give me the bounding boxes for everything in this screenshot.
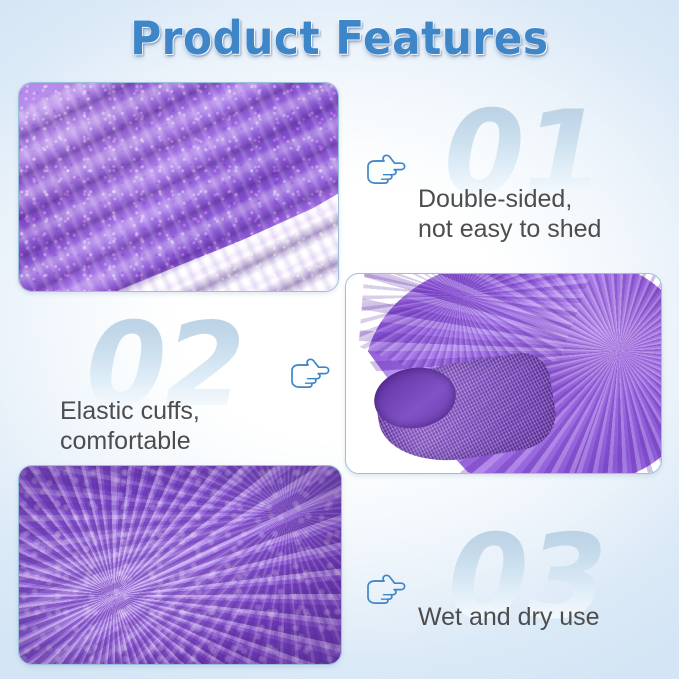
- photo-1-image: [19, 83, 338, 291]
- page-title: Product Features: [130, 12, 548, 64]
- photo-2-image: [346, 274, 661, 473]
- fabric-vignette: [19, 466, 341, 664]
- wash-mitt-texture: [346, 274, 661, 473]
- product-photo-double-sided: [18, 82, 339, 292]
- feature-text-1: Double-sided, not easy to shed: [418, 184, 601, 244]
- pointing-hand-right-icon: [360, 148, 406, 188]
- product-features-infographic: Product Features: [0, 0, 679, 679]
- pointing-hand-right-icon: [360, 568, 406, 608]
- product-photo-wet-dry: [18, 465, 342, 665]
- product-photo-elastic-cuff: [345, 273, 662, 474]
- photo-3-image: [19, 466, 341, 664]
- fabric-fuzz: [19, 83, 338, 291]
- pointing-hand-right-icon: [284, 352, 330, 392]
- feature-text-2: Elastic cuffs, comfortable: [60, 396, 200, 456]
- chenille-diagonal-texture: [19, 83, 338, 291]
- chenille-radial-texture: [19, 466, 341, 664]
- feature-text-3: Wet and dry use: [418, 602, 600, 632]
- page-title-container: Product Features: [0, 12, 679, 70]
